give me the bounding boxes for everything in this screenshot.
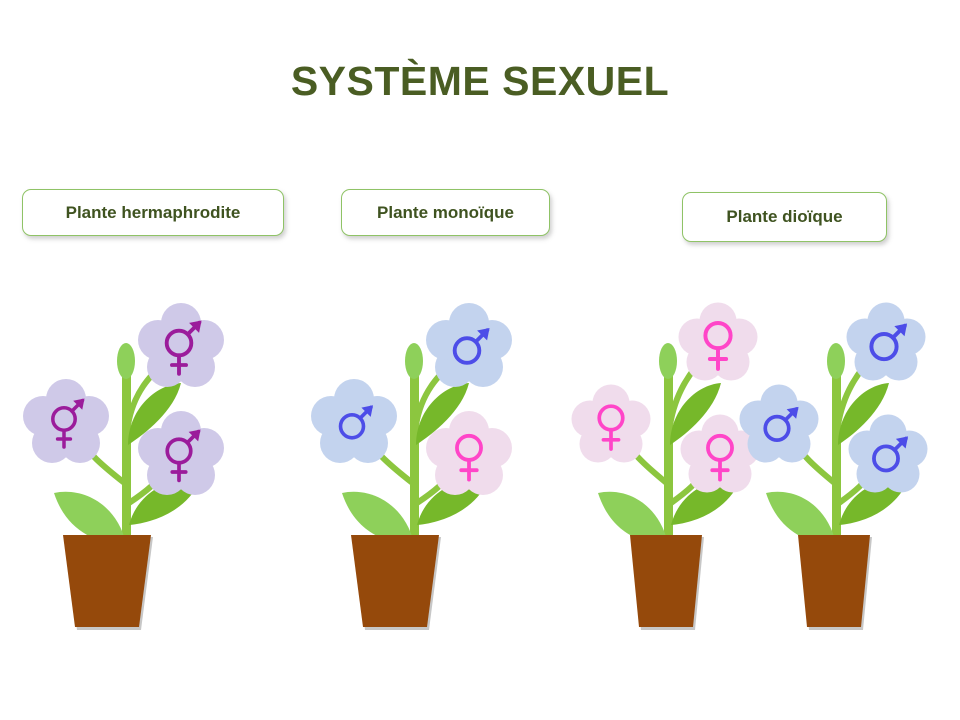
flower-hermaphrodite: [23, 379, 109, 463]
label-text: Plante dioïque: [726, 207, 842, 227]
flower-pot: [351, 535, 439, 627]
flower-female: [572, 385, 651, 463]
plant-hermaphrodite: [0, 255, 278, 625]
flower-male: [311, 379, 397, 463]
flower-male: [740, 385, 819, 463]
flower-male: [847, 303, 926, 381]
slide-canvas: SYSTÈME SEXUEL Plante hermaphrodite Plan…: [0, 0, 960, 720]
label-plante-hermaphrodite: Plante hermaphrodite: [22, 189, 284, 236]
flower-pot: [798, 535, 870, 627]
flower-male: [426, 303, 512, 387]
flower-pot: [63, 535, 151, 627]
flower-pot: [630, 535, 702, 627]
plant-dioecious-male: [706, 255, 960, 625]
flower-hermaphrodite: [138, 303, 224, 387]
plant-monoecious: [266, 255, 566, 625]
label-text: Plante hermaphrodite: [66, 203, 241, 223]
label-plante-dioique: Plante dioïque: [682, 192, 887, 242]
page-title: SYSTÈME SEXUEL: [0, 58, 960, 105]
label-text: Plante monoïque: [377, 203, 514, 223]
label-plante-monoique: Plante monoïque: [341, 189, 550, 236]
